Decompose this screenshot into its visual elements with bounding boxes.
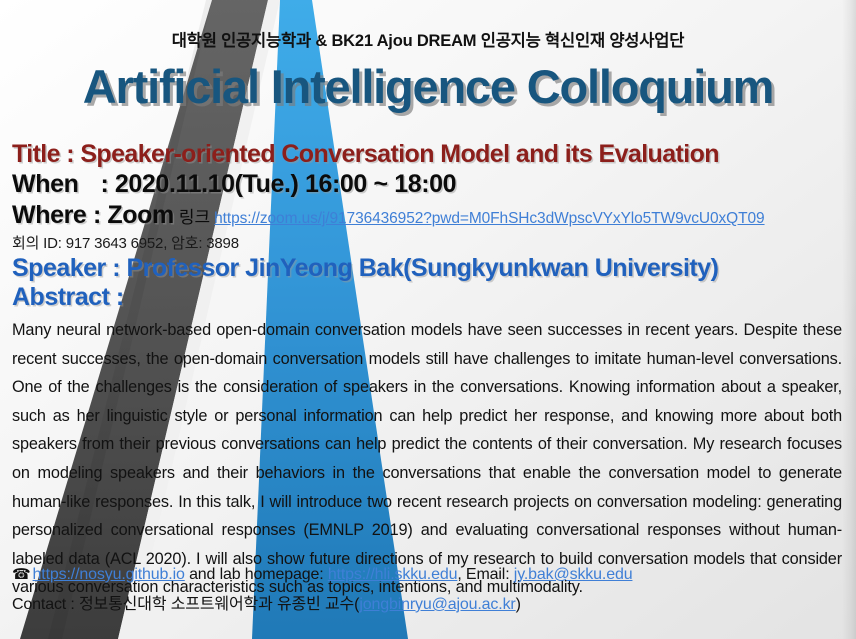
when-value: : 2020.11.10(Tue.) 16:00 ~ 18:00 (100, 170, 456, 198)
meeting-id-line: 회의 ID: 917 3643 6952, 암호: 3898 (12, 232, 239, 253)
telephone-icon: ☎ (12, 566, 33, 583)
contact-prefix: Contact : 정보통신대학 소프트웨어학과 유종빈 교수( (12, 596, 359, 613)
where-link-word: 링크 (174, 208, 210, 227)
footer-contact-line: Contact : 정보통신대학 소프트웨어학과 유종빈 교수(jongbinr… (12, 590, 521, 614)
talk-title-line: Title : Speaker-oriented Conversation Mo… (12, 140, 719, 169)
korean-subtitle: 대학원 인공지능학과 & BK21 Ajou DREAM 인공지능 혁신인재 양… (0, 27, 856, 51)
abstract-label: Abstract : (12, 283, 124, 312)
contact-email-link[interactable]: jongbinryu@ajou.ac.kr (359, 596, 515, 613)
poster-content: 대학원 인공지능학과 & BK21 Ajou DREAM 인공지능 혁신인재 양… (0, 0, 856, 639)
footer-links-line: ☎https://nosyu.github.io and lab homepag… (12, 565, 632, 584)
contact-suffix: ) (516, 596, 521, 613)
poster-canvas: 대학원 인공지능학과 & BK21 Ajou DREAM 인공지능 혁신인재 양… (0, 0, 856, 639)
page-title: Artificial Intelligence Colloquium (0, 61, 856, 113)
where-line: Where : Zoom링크https://zoom.us/j/91736436… (12, 201, 765, 230)
speaker-line: Speaker : Professor JinYeong Bak(Sungkyu… (12, 254, 718, 283)
lab-homepage-link[interactable]: https://hli.skku.edu (328, 566, 458, 583)
email-label: , Email: (457, 566, 509, 583)
zoom-meeting-link[interactable]: https://zoom.us/j/91736436952?pwd=M0FhSH… (210, 210, 764, 227)
when-label: When (12, 170, 78, 198)
lab-homepage-label: and lab homepage: (189, 566, 323, 583)
personal-homepage-link[interactable]: https://nosyu.github.io (33, 566, 185, 583)
speaker-email-link[interactable]: jy.bak@skku.edu (514, 566, 633, 583)
where-label: Where : Zoom (12, 201, 174, 229)
abstract-body-text: Many neural network-based open-domain co… (12, 316, 842, 602)
when-line: When: 2020.11.10(Tue.) 16:00 ~ 18:00 (12, 170, 456, 199)
